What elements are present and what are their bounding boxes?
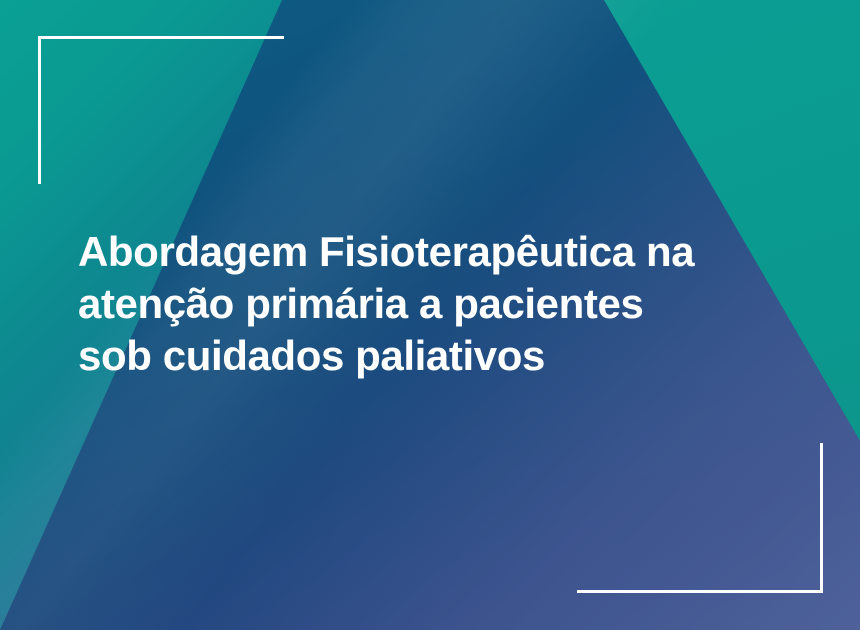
bracket-horizontal-line xyxy=(38,36,284,39)
title-line-3: sob cuidados paliativos xyxy=(78,330,798,382)
title-card: Abordagem Fisioterapêutica na atenção pr… xyxy=(0,0,860,630)
title-line-2: atenção primária a pacientes xyxy=(78,278,798,330)
bracket-vertical-line xyxy=(38,36,41,184)
title-line-1: Abordagem Fisioterapêutica na xyxy=(78,226,798,278)
page-title: Abordagem Fisioterapêutica na atenção pr… xyxy=(78,226,798,382)
